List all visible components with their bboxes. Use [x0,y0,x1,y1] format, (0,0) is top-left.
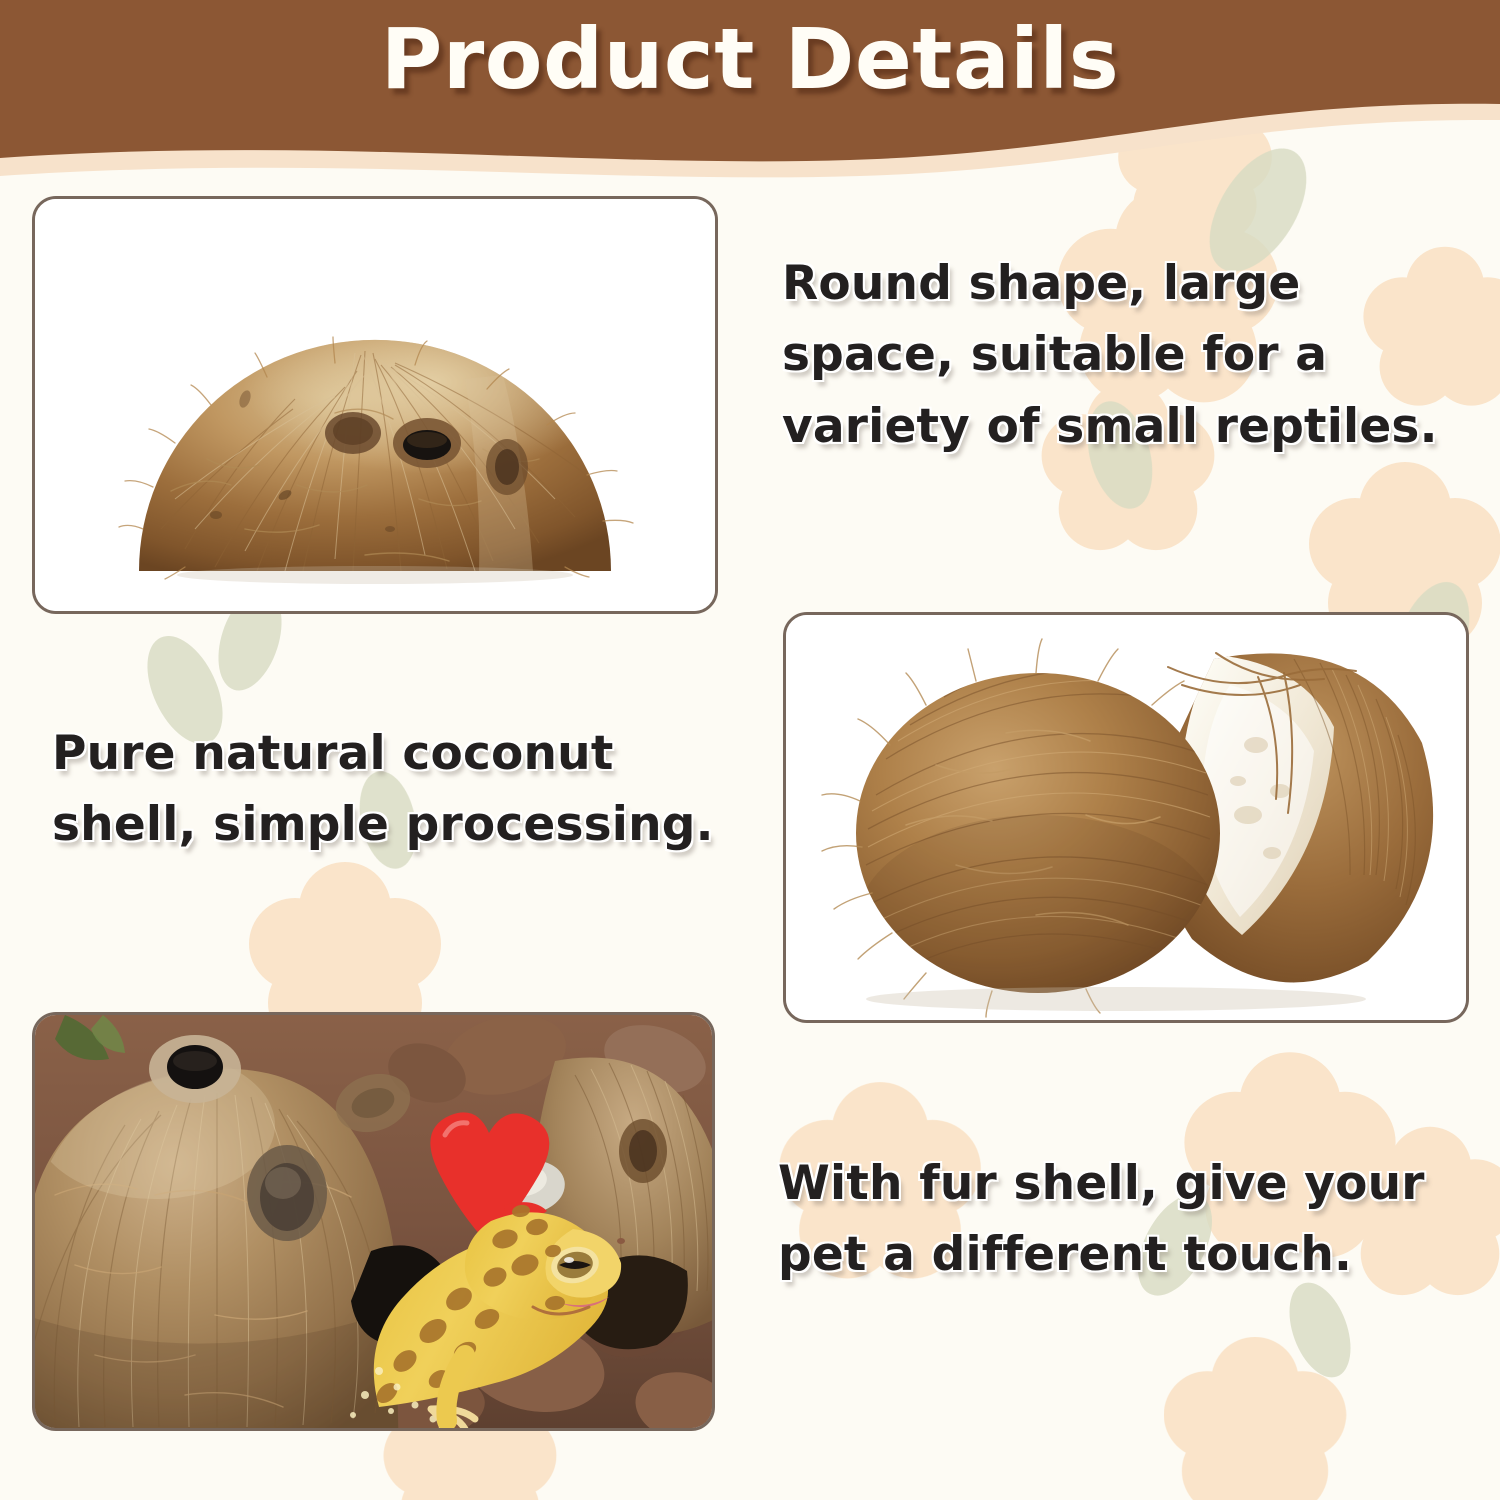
caption-fur-shell: With fur shell, give your pet a differen… [778,1148,1478,1291]
header-wave-brown [0,0,1500,161]
split-coconut-illustration [786,615,1466,1020]
header-wave-svg [0,0,1500,190]
caption-round-shape: Round shape, large space, suitable for a… [782,248,1482,462]
coconut-dome-illustration [35,199,715,611]
split-coconut-photo [783,612,1469,1023]
leopard-gecko-with-coconut-hide-photo [32,1012,715,1431]
caption-pure-natural: Pure natural coconut shell, simple proce… [52,718,752,861]
coconut-dome-image [35,199,715,611]
split-coconut-image [786,615,1466,1020]
coconut-shell-dome-photo [32,196,718,614]
product-details-infographic: Product Details [0,0,1500,1500]
gecko-hide-image [35,1015,712,1428]
gecko-scene-illustration [35,1015,712,1428]
header-band [0,0,1500,190]
